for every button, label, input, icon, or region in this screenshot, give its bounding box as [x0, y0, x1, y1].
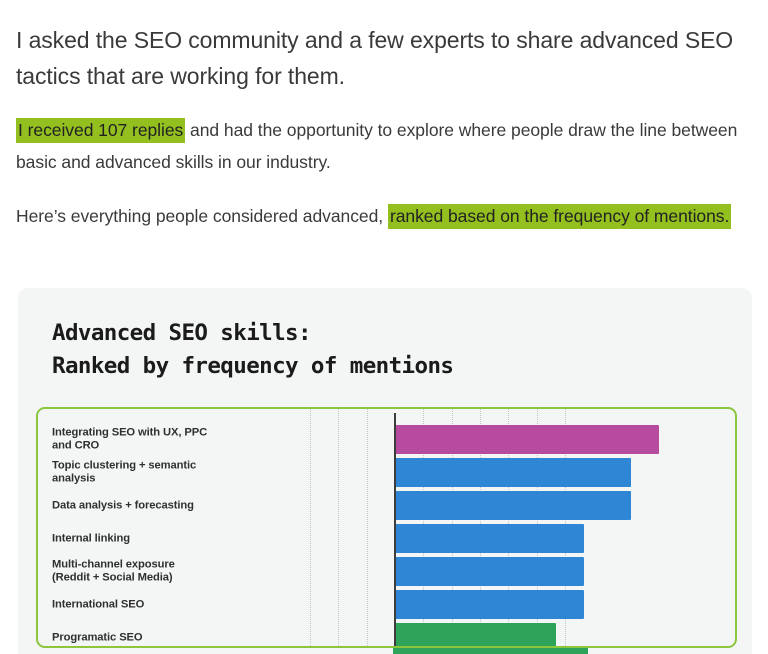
chart-category-label: Topic clustering + semantic analysis	[52, 459, 247, 486]
chart-rows: Integrating SEO with UX, PPC and CROTopi…	[38, 409, 735, 646]
highlight-ranked-by-frequency: ranked based on the frequency of mention…	[388, 204, 731, 229]
paragraph-replies: I received 107 replies and had the oppor…	[16, 114, 756, 178]
chart-row: Topic clustering + semantic analysis	[38, 456, 735, 489]
chart-plot-inner: Integrating SEO with UX, PPC and CROTopi…	[38, 409, 735, 646]
page-root: I asked the SEO community and a few expe…	[0, 0, 768, 654]
article-text: I asked the SEO community and a few expe…	[16, 22, 756, 232]
chart-bar	[395, 425, 659, 454]
chart-row: Multi-channel exposure (Reddit + Social …	[38, 555, 735, 588]
chart-title: Advanced SEO skills: Ranked by frequency…	[52, 317, 453, 383]
chart-category-label: Integrating SEO with UX, PPC and CRO	[52, 426, 247, 453]
highlight-received-replies: I received 107 replies	[16, 118, 185, 143]
chart-category-label: Internal linking	[52, 532, 247, 546]
chart-row: Programatic SEO	[38, 621, 735, 648]
chart-bar	[395, 590, 584, 619]
chart-row: Data analysis + forecasting	[38, 489, 735, 522]
chart-bar	[395, 524, 584, 553]
chart-category-label: Multi-channel exposure (Reddit + Social …	[52, 558, 247, 585]
paragraph-lead: I asked the SEO community and a few expe…	[16, 22, 756, 94]
paragraph-spacer-2	[16, 178, 756, 200]
chart-bar	[395, 491, 631, 520]
chart-axis-line	[394, 413, 396, 646]
chart-card: Advanced SEO skills: Ranked by frequency…	[18, 288, 752, 654]
chart-category-label: International SEO	[52, 598, 247, 612]
chart-cropped-overflow	[18, 648, 752, 654]
chart-next-bar-peek	[393, 648, 588, 654]
paragraph-ranked: Here’s everything people considered adva…	[16, 200, 756, 232]
chart-bar	[395, 623, 556, 648]
chart-plot-area: Integrating SEO with UX, PPC and CROTopi…	[36, 407, 737, 648]
chart-row: International SEO	[38, 588, 735, 621]
paragraph-ranked-intro: Here’s everything people considered adva…	[16, 206, 388, 226]
chart-row: Integrating SEO with UX, PPC and CRO	[38, 423, 735, 456]
chart-category-label: Programatic SEO	[52, 631, 247, 645]
chart-row: Internal linking	[38, 522, 735, 555]
chart-bar	[395, 458, 631, 487]
paragraph-spacer-1	[16, 94, 756, 114]
paragraph-lead-text: I asked the SEO community and a few expe…	[16, 27, 733, 89]
chart-category-label: Data analysis + forecasting	[52, 499, 247, 513]
chart-bar	[395, 557, 584, 586]
